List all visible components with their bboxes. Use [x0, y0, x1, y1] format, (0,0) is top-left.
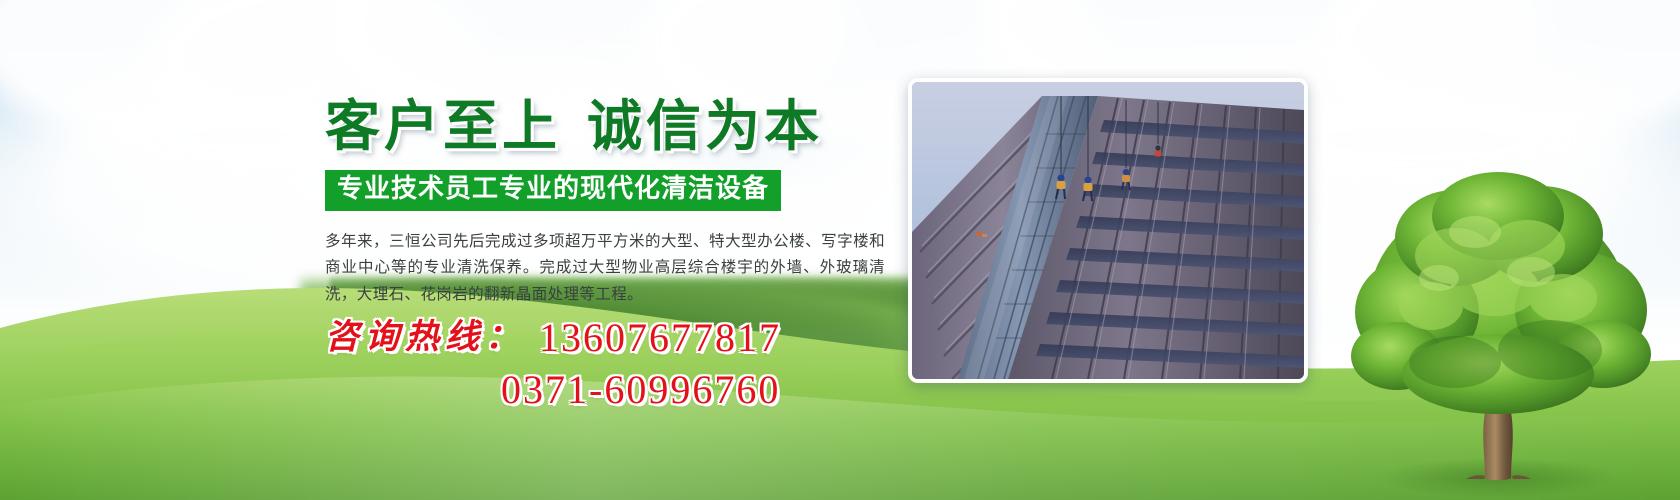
description-text: 多年来，三恒公司先后完成过多项超万平方米的大型、特大型办公楼、写字楼和商业中心等…	[325, 229, 885, 309]
headline-part-1: 客户至上	[325, 96, 561, 157]
tree-illustration	[1335, 160, 1665, 500]
hotline-label: 咨询热线：	[325, 319, 525, 356]
phone-number-mobile[interactable]: 13607677817	[539, 315, 781, 360]
hotline-row-secondary: 0371-60996760	[325, 370, 885, 410]
phone-number-landline[interactable]: 0371-60996760	[501, 367, 780, 412]
building-photo[interactable]	[908, 78, 1308, 383]
description-paragraph: 多年来，三恒公司先后完成过多项超万平方米的大型、特大型办公楼、写字楼和商业中心等…	[325, 229, 885, 309]
hero-banner: 客户至上诚信为本 专业技术员工专业的现代化清洁设备 多年来，三恒公司先后完成过多…	[0, 0, 1680, 500]
hotline-row-primary: 咨询热线：13607677817	[325, 318, 885, 358]
headline-part-2: 诚信为本	[587, 96, 823, 157]
contact-block: 咨询热线：13607677817 0371-60996760	[325, 318, 885, 410]
subtitle-bar: 专业技术员工专业的现代化清洁设备	[325, 170, 781, 211]
banner-copy: 客户至上诚信为本 专业技术员工专业的现代化清洁设备 多年来，三恒公司先后完成过多…	[325, 96, 895, 309]
page-title: 客户至上诚信为本	[325, 96, 895, 158]
